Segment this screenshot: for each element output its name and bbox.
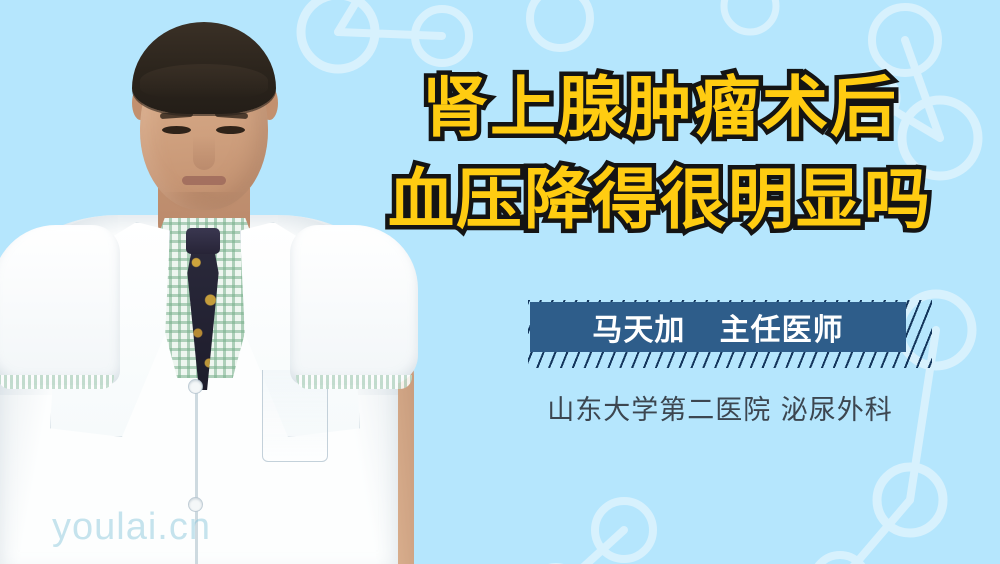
sleeve-left [0, 225, 120, 385]
sleeve-cuff-left [0, 375, 114, 389]
hospital-department-label: 山东大学第二医院 泌尿外科 [480, 388, 960, 427]
necktie-knot [186, 228, 220, 254]
eye-right [216, 126, 245, 134]
coat-button-upper [189, 380, 202, 393]
sleeve-cuff-right [296, 375, 412, 389]
hair [132, 22, 276, 114]
headline-line-1: 肾上腺肿瘤术后 [360, 62, 960, 154]
doctor-portrait [0, 0, 420, 564]
headline-block: 肾上腺肿瘤术后 血压降得很明显吗 [360, 62, 960, 246]
eye-left [162, 126, 191, 134]
site-watermark: youlai.cn [52, 506, 211, 549]
sleeve-right [290, 225, 418, 385]
speaker-name-text: 马天加 主任医师 [592, 305, 843, 349]
mouth [182, 176, 226, 185]
nose [193, 136, 215, 170]
headline-line-2: 血压降得很明显吗 [360, 154, 960, 246]
video-thumbnail-canvas: 肾上腺肿瘤术后 血压降得很明显吗 马天加 主任医师 山东大学第二医院 泌尿外科 … [0, 0, 1000, 564]
chin-shadow [162, 192, 246, 214]
speaker-name-banner: 马天加 主任医师 [530, 302, 906, 352]
